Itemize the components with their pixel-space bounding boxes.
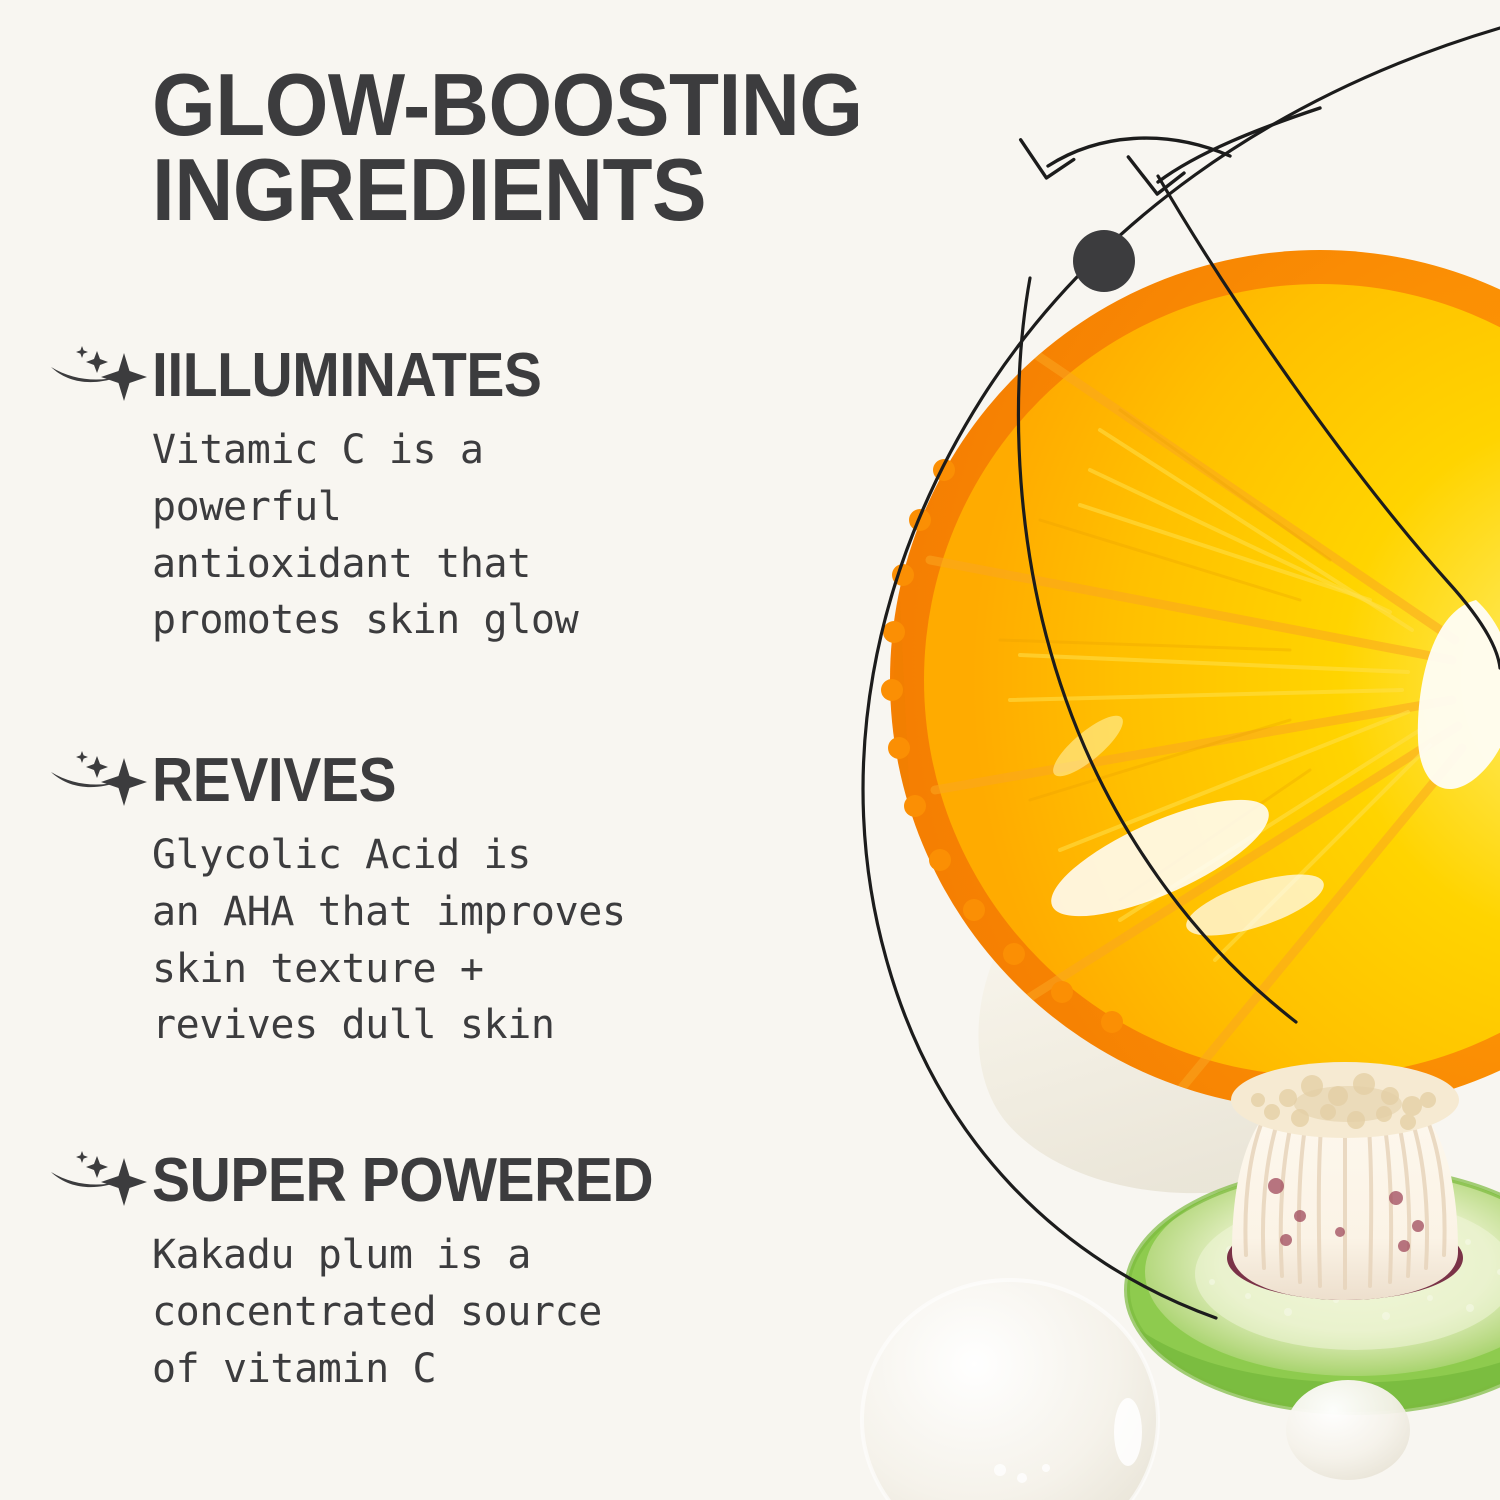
sparkle-icon xyxy=(48,1148,152,1214)
content-column: GLOW-BOOSTING INGREDIENTS IILLUMINATES V… xyxy=(0,0,1500,1500)
feature-block-super-powered: SUPER POWERED Kakadu plum is a concentra… xyxy=(48,1145,838,1397)
feature-title: REVIVES xyxy=(152,750,396,812)
feature-title: SUPER POWERED xyxy=(152,1150,653,1212)
sparkle-icon xyxy=(48,748,152,814)
sparkle-icon xyxy=(48,343,152,409)
feature-title: IILLUMINATES xyxy=(152,345,542,407)
feature-description: Vitamic C is a powerful antioxidant that… xyxy=(152,422,838,649)
page-title: GLOW-BOOSTING INGREDIENTS xyxy=(152,62,989,233)
poster-canvas: GLOW-BOOSTING INGREDIENTS IILLUMINATES V… xyxy=(0,0,1500,1500)
feature-description: Glycolic Acid is an AHA that improves sk… xyxy=(152,827,838,1054)
feature-description: Kakadu plum is a concentrated source of … xyxy=(152,1227,838,1397)
feature-heading-row: IILLUMINATES xyxy=(48,340,838,412)
feature-block-illuminates: IILLUMINATES Vitamic C is a powerful ant… xyxy=(48,340,838,649)
feature-heading-row: REVIVES xyxy=(48,745,838,817)
feature-block-revives: REVIVES Glycolic Acid is an AHA that imp… xyxy=(48,745,838,1054)
feature-heading-row: SUPER POWERED xyxy=(48,1145,838,1217)
